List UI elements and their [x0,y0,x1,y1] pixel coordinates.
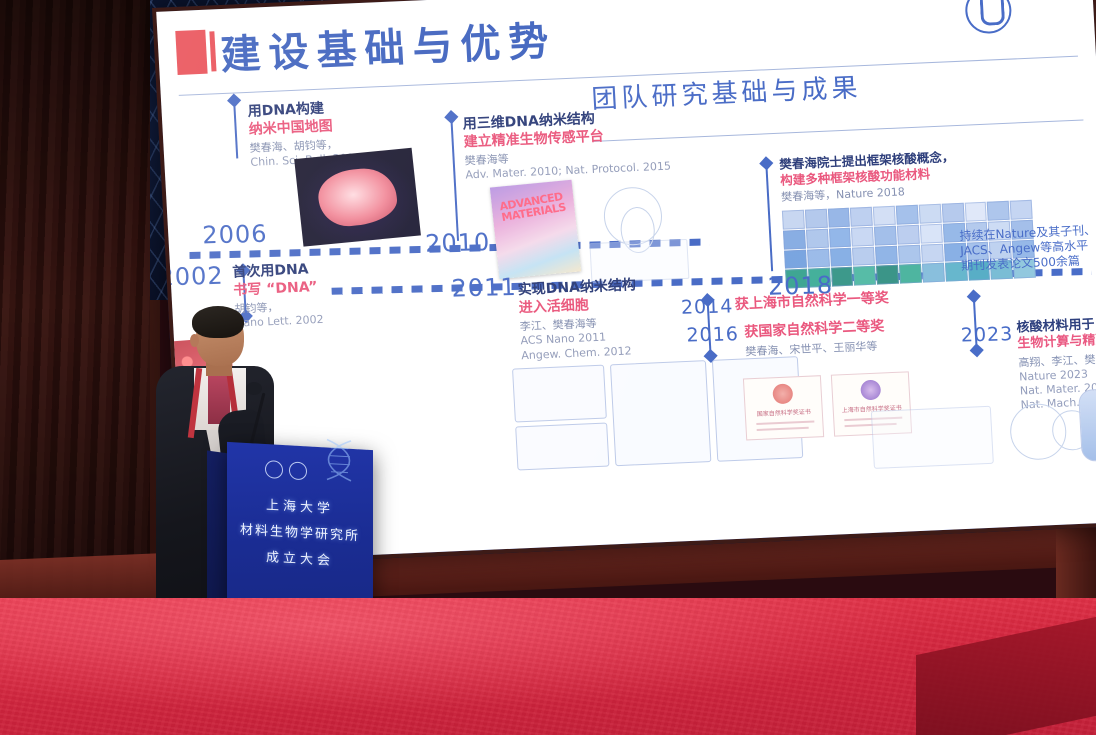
journal-cover-image: ADVANCED MATERIALS [490,180,581,279]
event-heading-line1: 获上海市自然科学一等奖 [734,290,889,314]
event-heading-line2: 书写 “DNA” [233,278,322,299]
podium-line-2: 材料生物学研究所 [227,518,373,545]
timeline-tick [765,163,773,271]
red-bar-mark [175,30,207,75]
microphone-icon [246,382,262,395]
publications-note: 持续在Nature及其子刊、 JACS、Angew等高水平 期刊发表论文500余… [959,223,1096,274]
cell-sketch [515,423,609,471]
event-2018: 樊春海院士提出框架核酸概念， 构建多种框架核酸功能材料 樊春海等，Nature … [779,149,956,205]
certificate-1: 国家自然科学奖证书 [743,375,824,440]
slide-title: 建设基础与优势 [219,8,558,81]
institute-logo-icon [289,461,307,480]
event-2010: 用三维DNA纳米结构 建立精准生物传感平台 樊春海等 Adv. Mater. 2… [462,108,671,183]
podium-line-3: 成立大会 [227,544,373,571]
event-authors: 樊春海、宋世平、王丽华等 [745,339,886,359]
year-2014: 2014 [681,295,734,318]
timeline-tick [450,117,459,241]
year-2010: 2010 [425,228,491,258]
structure-sketch [1078,389,1096,462]
china-map-dna-image [294,148,421,247]
shield-logo-icon [964,0,1012,34]
event-2016: 获国家自然科学二等奖 樊春海、宋世平、王丽华等 [744,318,886,359]
map-shape [316,166,400,229]
city-emblem-seal [860,380,881,401]
certificate-caption: 国家自然科学奖证书 [746,406,822,418]
event-2011: 实现DNA纳米结构 进入活细胞 李江、樊春海等 ACS Nano 2011 An… [517,277,639,363]
cell-sketch [512,365,607,423]
shanghai-university-logo-icon [265,460,283,479]
year-2016: 2016 [686,323,739,346]
structure-sketch [589,239,689,283]
year-2011: 2011 [451,273,517,303]
hair [192,306,244,338]
national-emblem-seal [772,383,793,404]
journal-cover-title: ADVANCED MATERIALS [499,189,576,223]
dna-helix-icon [317,437,377,500]
event-2014: 获上海市自然科学一等奖 [734,290,889,314]
year-2023: 2023 [960,323,1013,346]
conference-photo-scene: 4 建设基础与优势 团队研究基础与成果 用DNA构建 纳米中国地图 樊春海 [0,0,1096,735]
cell-sketch [610,360,711,466]
timeline-tick [233,100,238,158]
event-heading-line1: 获国家自然科学二等奖 [744,318,885,342]
year-2006: 2006 [202,220,268,250]
ear [190,334,199,347]
structure-sketch [871,406,994,469]
